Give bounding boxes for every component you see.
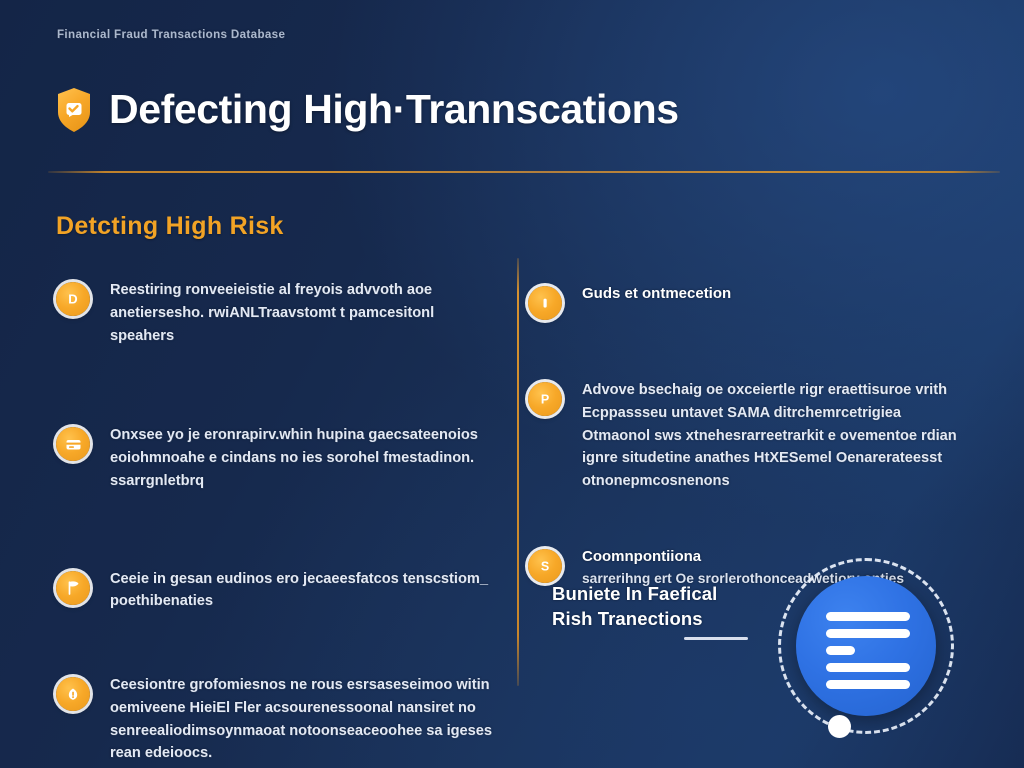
section-heading: Detcting High Risk [56, 212, 284, 241]
card-badge-icon [56, 427, 90, 461]
list-item-body: Advove bsechaig oe oxceiertle rigr eraet… [582, 378, 960, 493]
svg-text:P: P [541, 393, 549, 407]
list-item-text: Ceesiontre grofomiesnos ne rous esrsases… [110, 674, 496, 765]
slide-canvas: Financial Fraud Transactions Database De… [0, 0, 1024, 768]
dollar-badge-icon: S [528, 549, 562, 583]
document-line-short [826, 646, 855, 655]
footer-callout-underline [684, 637, 748, 640]
p-badge-icon: P [528, 382, 562, 416]
right-column: Guds et ontmecetion P Advove bsechaig oe… [528, 282, 960, 590]
document-lines-icon [826, 612, 910, 689]
left-column: D Reestiring ronveeieistie al freyois ad… [56, 278, 496, 765]
page-title: Defecting High·Trannscations [109, 86, 679, 133]
key-badge-icon [528, 286, 562, 320]
list-item-body: Onxsee yo je eronrapirv.whin hupina gaec… [110, 423, 496, 492]
list-item-text: Ceeie in gesan eudinos ero jecaeesfatcos… [110, 568, 496, 614]
footer-callout: Buniete In Faefical Rish Tranections [552, 582, 777, 640]
list-item-text: Onxsee yo je eronrapirv.whin hupina gaec… [110, 424, 496, 492]
list-item: Ceeie in gesan eudinos ero jecaeesfatcos… [56, 567, 496, 614]
document-badge [778, 558, 954, 734]
kicker-text: Financial Fraud Transactions Database [57, 29, 285, 41]
list-item-body: Ceeie in gesan eudinos ero jecaeesfatcos… [110, 567, 496, 614]
list-item-body: Ceesiontre grofomiesnos ne rous esrsases… [110, 673, 496, 765]
list-item: Onxsee yo je eronrapirv.whin hupina gaec… [56, 423, 496, 492]
title-row: Defecting High·Trannscations [56, 86, 679, 133]
footer-callout-line-1: Buniete In Faefical [552, 582, 777, 607]
list-item-body: Reestiring ronveeieistie al freyois advv… [110, 278, 496, 347]
document-line [826, 680, 910, 689]
dollar-badge-icon: D [56, 282, 90, 316]
footer-callout-line-2: Rish Tranections [552, 607, 777, 632]
svg-text:D: D [68, 292, 77, 307]
list-item-body: Guds et ontmecetion [582, 282, 731, 306]
list-item: P Advove bsechaig oe oxceiertle rigr era… [528, 378, 960, 493]
column-divider [517, 258, 519, 686]
document-line [826, 629, 910, 638]
title-divider [48, 171, 1000, 173]
list-item: Guds et ontmecetion [528, 282, 960, 320]
document-dot-icon [828, 715, 851, 738]
list-item-text: Reestiring ronveeieistie al freyois advv… [110, 279, 496, 347]
list-item: Ceesiontre grofomiesnos ne rous esrsases… [56, 673, 496, 765]
alert-badge-icon [56, 677, 90, 711]
flag-badge-icon [56, 571, 90, 605]
svg-text:S: S [541, 559, 549, 573]
document-line [826, 663, 910, 672]
list-item-heading: Guds et ontmecetion [582, 283, 731, 304]
shield-check-icon [56, 87, 92, 133]
list-item: D Reestiring ronveeieistie al freyois ad… [56, 278, 496, 347]
list-item-text: Advove bsechaig oe oxceiertle rigr eraet… [582, 379, 960, 493]
document-line [826, 612, 910, 621]
